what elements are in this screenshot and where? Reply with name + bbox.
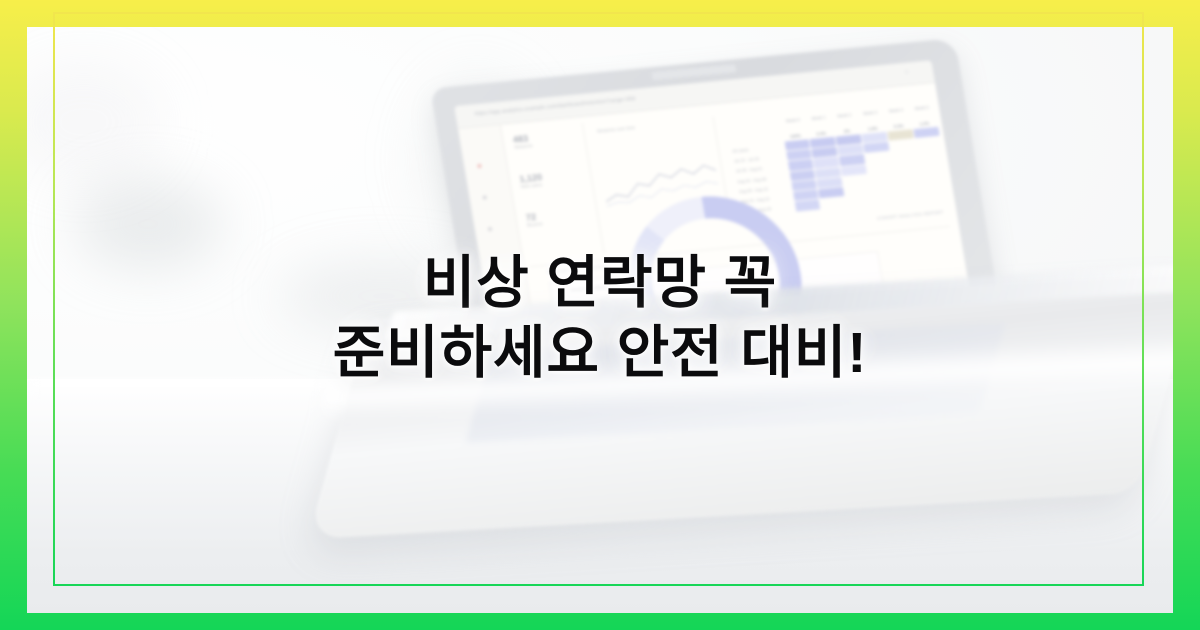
white-plate: https://app.analytics.example.com/dashbo… — [27, 27, 1173, 613]
devices-subtitle: Sessions by device — [570, 284, 608, 293]
kpi-column: 483 Sessions 1,120 New users 72 Bounce — [506, 123, 604, 261]
background-blur-blob — [73, 179, 223, 269]
laptop-notch — [651, 64, 736, 80]
promo-banner: https://app.analytics.example.com/dashbo… — [0, 0, 1200, 630]
cohort-cell — [794, 200, 820, 212]
devices-question: What are your top devices? — [547, 264, 611, 276]
sidebar-dot-icon — [481, 195, 486, 199]
cohort-cell-empty — [897, 190, 923, 202]
cohort-cell-empty — [923, 188, 949, 200]
kpi-stat: 72 Bounce — [525, 207, 594, 228]
star-icon: ☆ — [903, 69, 910, 76]
kpi-stat: 1,120 New users — [518, 168, 587, 189]
cohort-cell-empty — [820, 197, 846, 209]
trend-panel-title: Sessions over time — [596, 126, 635, 135]
cohort-cell-empty — [845, 195, 871, 207]
sidebar-dot-icon — [476, 164, 481, 168]
background-photo: https://app.analytics.example.com/dashbo… — [27, 27, 1173, 613]
sidebar-dot-icon — [487, 227, 492, 231]
cohort-grid: All Users Jul 19 — [723, 127, 950, 218]
cohort-cell-empty — [871, 192, 897, 204]
kpi-stat: 483 Sessions — [512, 129, 581, 150]
cohort-report-link[interactable]: COHORT ANALYSIS REPORT — [876, 210, 943, 221]
laptop: https://app.analytics.example.com/dashbo… — [440, 50, 1173, 589]
background-blur-blob — [27, 62, 164, 182]
